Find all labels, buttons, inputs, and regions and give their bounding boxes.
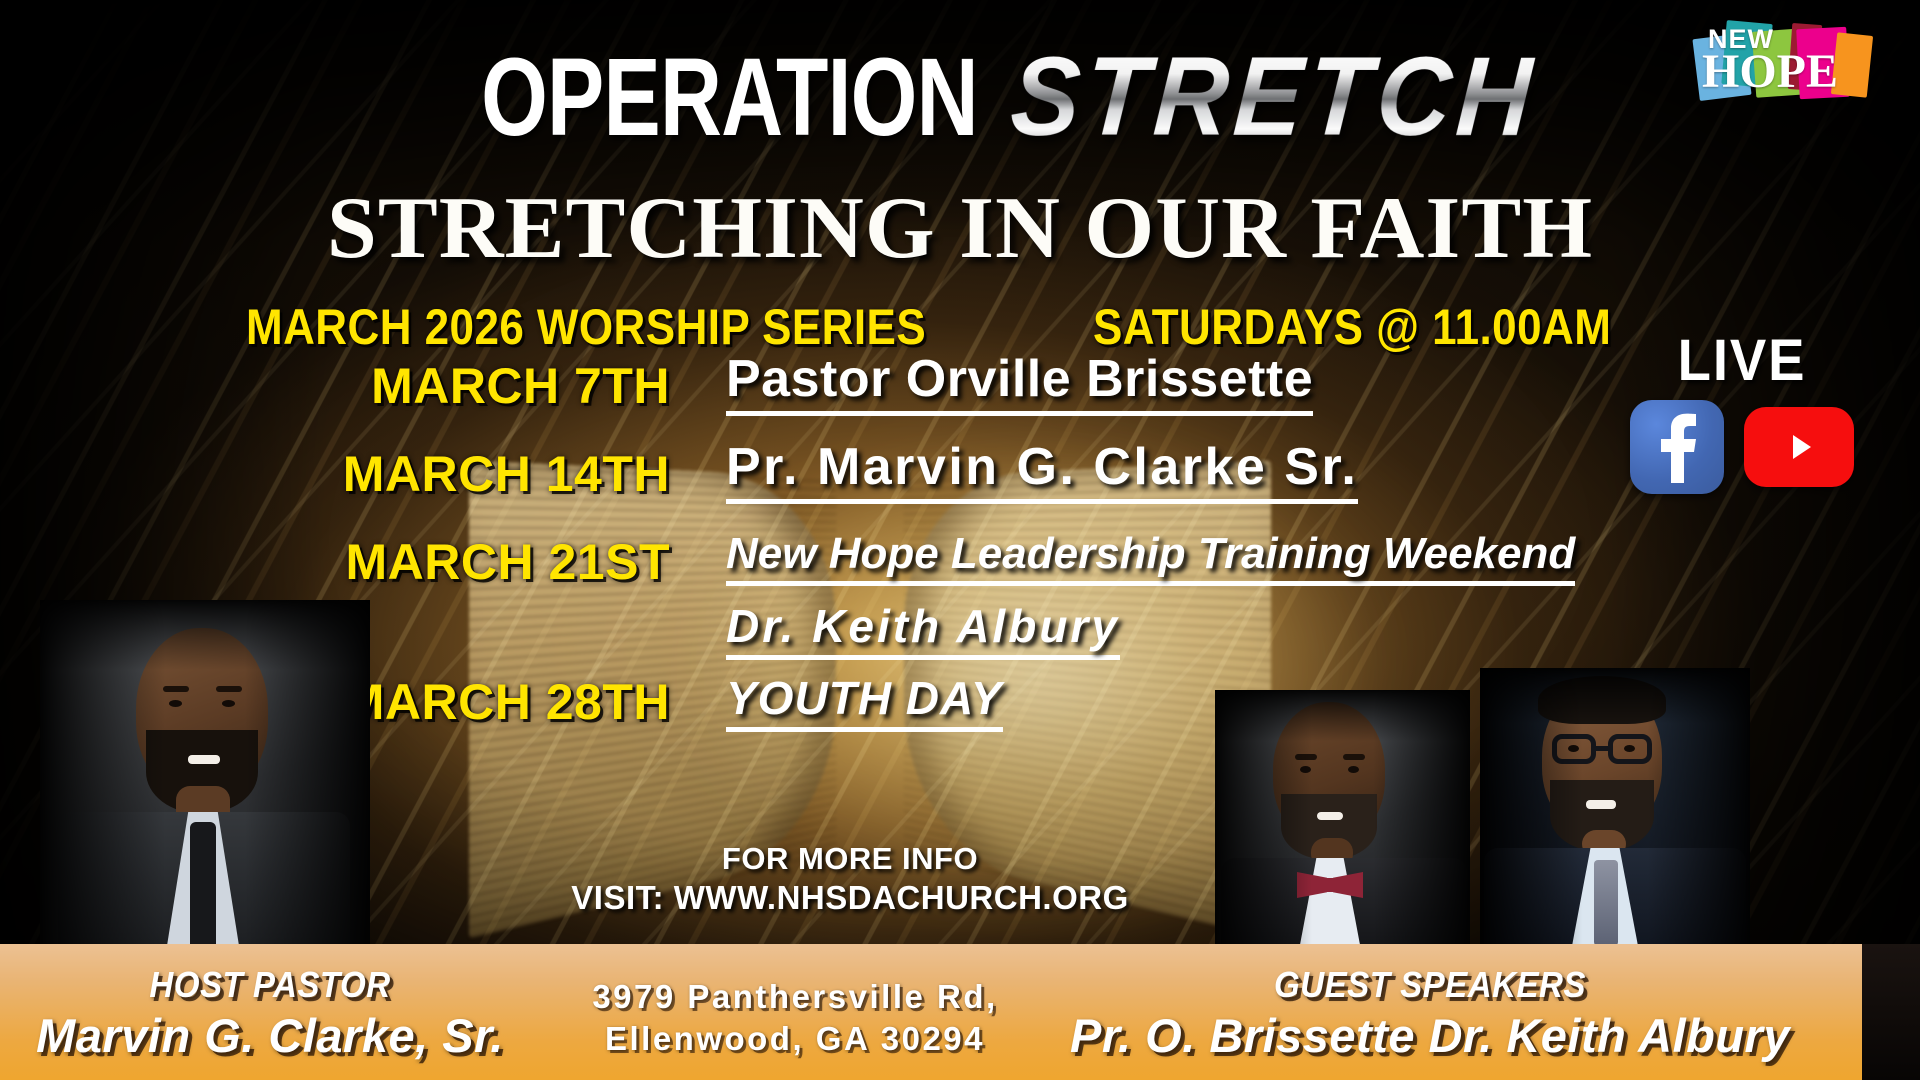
youtube-icon[interactable] bbox=[1744, 407, 1854, 487]
guest-speakers-block: GUEST SPEAKERS Pr. O. Brissette Dr. Keit… bbox=[1000, 964, 1860, 1063]
series-label: MARCH 2026 WORSHIP SERIES bbox=[246, 298, 926, 356]
title-word-stretch: STRETCH bbox=[1008, 44, 1540, 150]
social-icons bbox=[1612, 400, 1872, 494]
live-label: LIVE bbox=[1620, 332, 1864, 390]
series-time: SATURDAYS @ 11.00AM bbox=[1093, 298, 1611, 356]
host-pastor-photo bbox=[40, 600, 370, 950]
guest-speakers-names: Pr. O. Brissette Dr. Keith Albury bbox=[1000, 1008, 1860, 1063]
church-address: 3979 Panthersville Rd, Ellenwood, GA 302… bbox=[560, 976, 1030, 1060]
live-block: LIVE bbox=[1612, 332, 1872, 494]
more-info-label: FOR MORE INFO bbox=[540, 840, 1160, 878]
facebook-icon[interactable] bbox=[1630, 400, 1724, 494]
guest-speakers-title: GUEST SPEAKERS bbox=[1034, 964, 1825, 1006]
title-word-operation: OPERATION bbox=[481, 46, 978, 151]
website-url[interactable]: VISIT: WWW.NHSDACHURCH.ORG bbox=[540, 878, 1160, 918]
schedule-speaker: Pastor Orville Brissette bbox=[726, 349, 1313, 416]
schedule-date: MARCH 7TH bbox=[371, 357, 670, 415]
guest-speaker-2-photo bbox=[1480, 668, 1750, 946]
guest-speaker-1-photo bbox=[1215, 690, 1470, 946]
address-line-2: Ellenwood, GA 30294 bbox=[560, 1018, 1030, 1060]
new-hope-logo[interactable]: NEW HOPE bbox=[1694, 14, 1870, 106]
host-pastor-title: HOST PASTOR bbox=[31, 964, 509, 1006]
logo-text-hope: HOPE bbox=[1702, 44, 1838, 99]
address-line-1: 3979 Panthersville Rd, bbox=[560, 976, 1030, 1018]
host-pastor-block: HOST PASTOR Marvin G. Clarke, Sr. bbox=[10, 964, 530, 1063]
subtitle: STRETCHING IN OUR FAITH bbox=[0, 178, 1920, 279]
schedule-event: New Hope Leadership Training Weekend bbox=[726, 529, 1575, 586]
schedule-date: MARCH 21ST bbox=[346, 533, 670, 591]
series-info-row: MARCH 2026 WORSHIP SERIES SATURDAYS @ 11… bbox=[246, 298, 1526, 356]
page-title: OPERATIONSTRETCH bbox=[0, 44, 1920, 151]
schedule-date: MARCH 14TH bbox=[343, 445, 670, 503]
schedule-speaker: Dr. Keith Albury bbox=[726, 599, 1120, 660]
banner-right-edge bbox=[1862, 944, 1920, 1080]
event-flyer: OPERATIONSTRETCH STRETCHING IN OUR FAITH… bbox=[0, 0, 1920, 1080]
schedule-event: YOUTH DAY bbox=[726, 671, 1003, 732]
host-pastor-name: Marvin G. Clarke, Sr. bbox=[10, 1008, 530, 1063]
schedule-date: MARCH 28TH bbox=[343, 673, 670, 731]
more-info-block: FOR MORE INFO VISIT: WWW.NHSDACHURCH.ORG bbox=[540, 840, 1160, 918]
schedule-speaker: Pr. Marvin G. Clarke Sr. bbox=[726, 437, 1358, 504]
